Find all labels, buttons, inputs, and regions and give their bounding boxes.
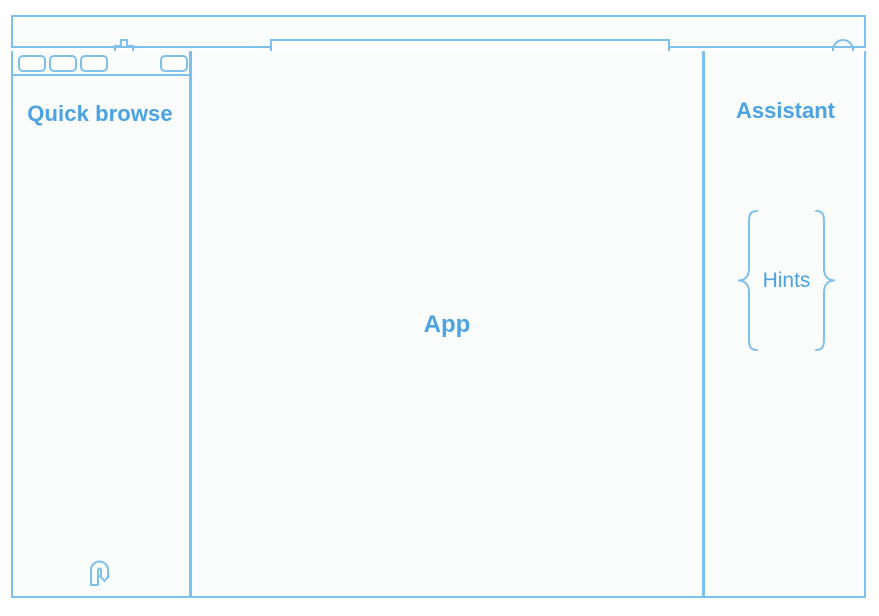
sidebar-tabbar — [11, 51, 189, 76]
sidebar-title: Quick browse — [11, 99, 189, 129]
left-brace-icon — [737, 208, 759, 353]
main-app-panel: App — [192, 51, 702, 598]
sidebar: Quick browse — [11, 51, 192, 598]
right-brace-icon — [814, 208, 836, 353]
sidebar-tab-2[interactable] — [49, 55, 77, 72]
wireframe-root: Quick browse App Assistant Hints — [0, 0, 879, 616]
sidebar-tab-1[interactable] — [18, 55, 46, 72]
sidebar-tab-4[interactable] — [160, 55, 188, 72]
app-label: App — [192, 51, 702, 598]
hints-group: Hints — [719, 208, 854, 353]
u-turn-arrow-icon[interactable] — [87, 558, 121, 588]
assistant-panel: Assistant Hints — [705, 51, 866, 598]
sidebar-tab-3[interactable] — [80, 55, 108, 72]
hints-label: Hints — [759, 269, 815, 293]
top-bar — [11, 15, 866, 48]
assistant-title: Assistant — [705, 98, 866, 124]
